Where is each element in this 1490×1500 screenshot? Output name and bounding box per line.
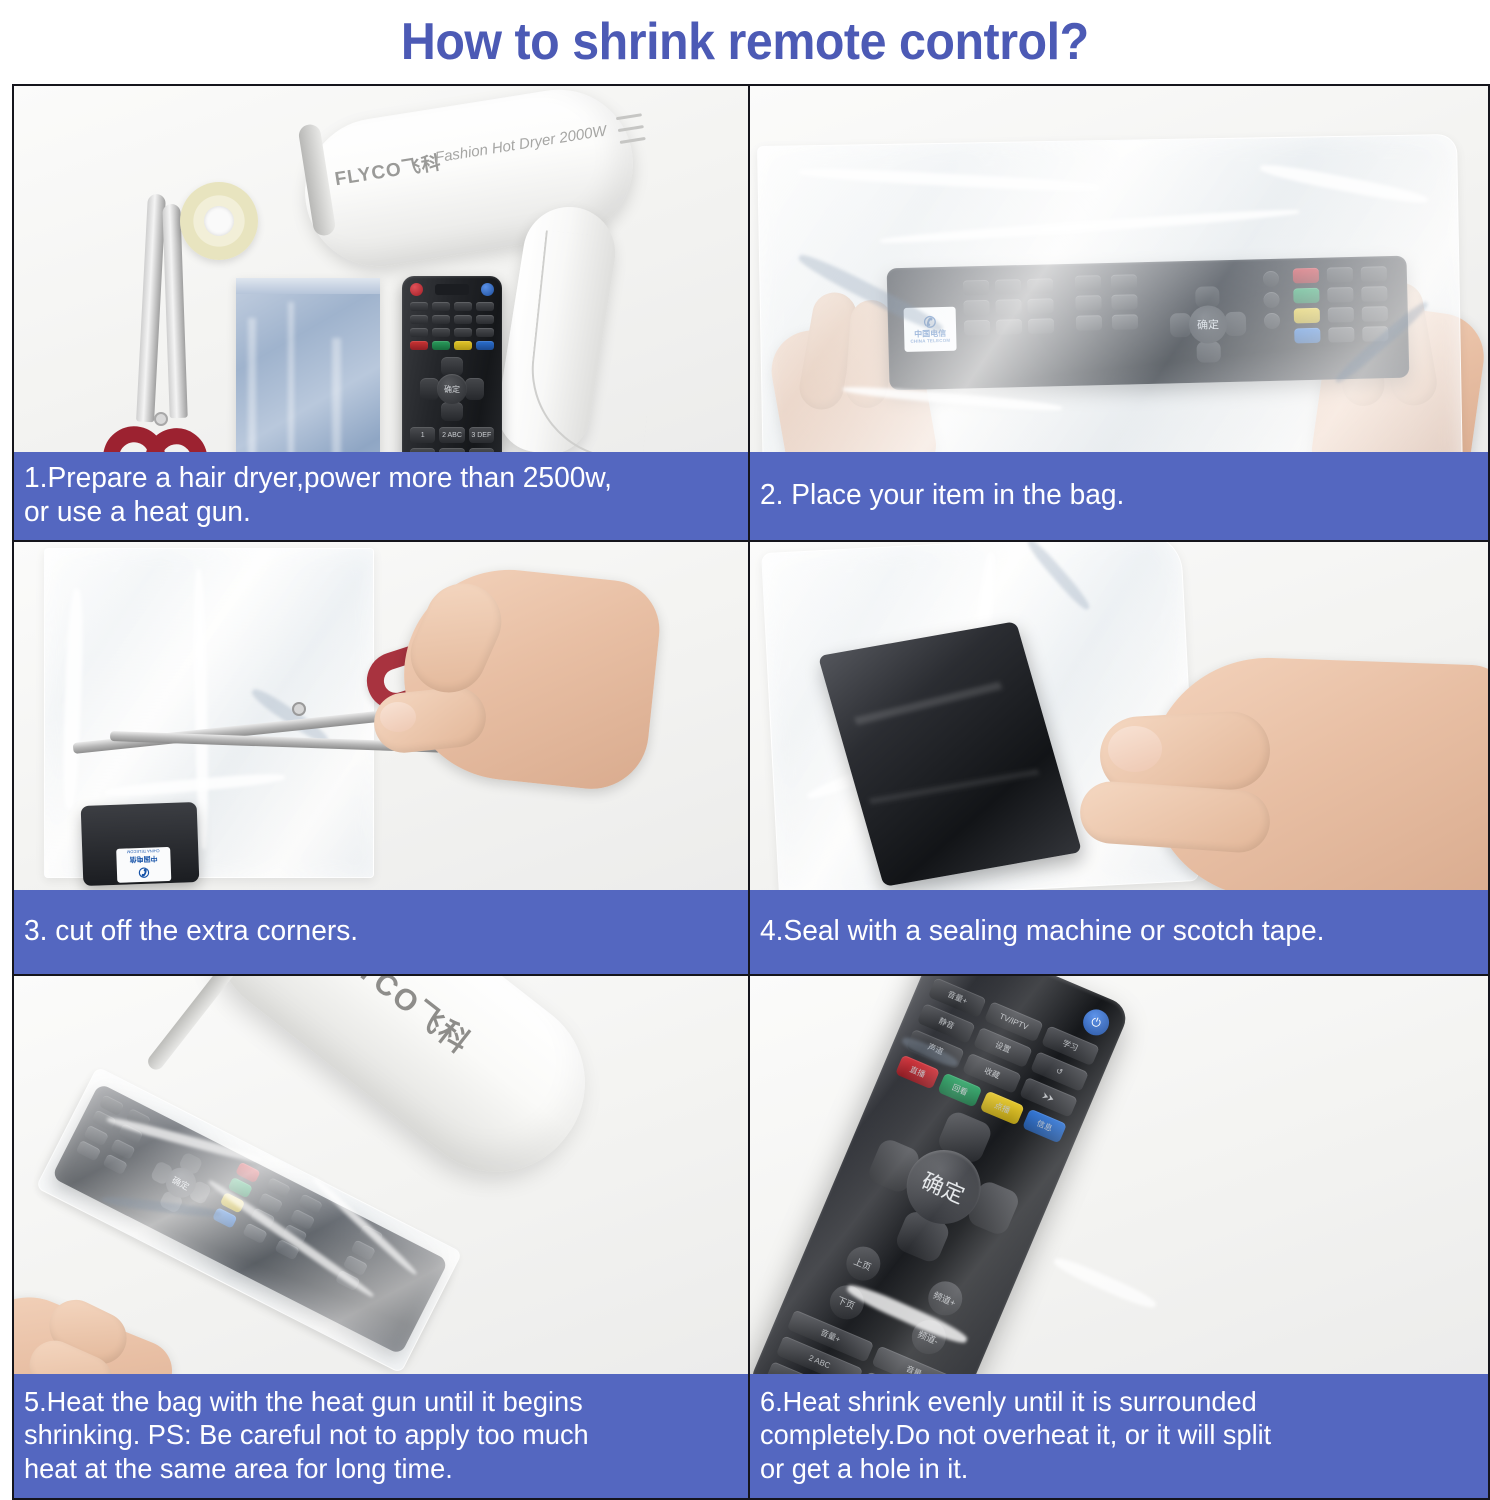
- remote-key-channel-up: 频道+: [923, 1276, 968, 1321]
- fingernail: [380, 702, 416, 732]
- remote-key-4: 4 GHI: [410, 448, 435, 452]
- step-photo-2: ✆ 中国电信 CHINA TELECOM: [750, 86, 1488, 452]
- telecom-mark-icon: ✆: [138, 864, 149, 880]
- caption-line: completely.Do not overheat it, or it wil…: [760, 1418, 1456, 1452]
- step-photo-5: FLYCO飞科 确定: [14, 976, 748, 1374]
- remote-power-blue-icon: ⏻: [1079, 1005, 1113, 1039]
- step-photo-3: ✆ 中国电信 CHINA TELECOM: [14, 542, 748, 890]
- remote-key-page-up: 上页: [841, 1241, 886, 1286]
- remote-control-flat: 确定 1 2 ABC 3 DEF 4 GHI 5 JKL 6 MNO: [402, 276, 502, 452]
- shrink-bag-flat: [236, 278, 380, 452]
- plastic-bag: [757, 134, 1463, 452]
- remote-key-1: 1: [410, 427, 435, 443]
- caption-line: heat at the same area for long time.: [24, 1452, 717, 1486]
- remote-key-6: 6 MNO: [469, 448, 494, 452]
- caption-line: 2. Place your item in the bag.: [760, 478, 1456, 512]
- remote-control-in-bag: ✆ 中国电信 CHINA TELECOM: [81, 802, 200, 886]
- tape-roll: [180, 182, 258, 260]
- remote-key-3: 3 DEF: [469, 427, 494, 443]
- step-panel-4: 4.Seal with a sealing machine or scotch …: [748, 540, 1490, 974]
- step-panel-2: ✆ 中国电信 CHINA TELECOM: [748, 84, 1490, 540]
- step-panel-3: ✆ 中国电信 CHINA TELECOM 3. cut off the extr…: [12, 540, 748, 974]
- remote-power-red-icon: ⏻: [939, 976, 973, 980]
- remote-key-5: 5 JKL: [439, 448, 464, 452]
- step-photo-6: ⏻ ⏻ 音量+ TV/IPTV 学习 静音 设置 ↺ 声道: [750, 976, 1488, 1374]
- telecom-logo-cn: 中国电信: [129, 854, 157, 865]
- steps-grid: FLYCO飞科 Fashion Hot Dryer 2000W: [12, 84, 1490, 1500]
- step-panel-6: ⏻ ⏻ 音量+ TV/IPTV 学习 静音 设置 ↺ 声道: [748, 974, 1490, 1500]
- step-photo-1: FLYCO飞科 Fashion Hot Dryer 2000W: [14, 86, 748, 452]
- fingernail: [1108, 726, 1162, 772]
- step-caption-4: 4.Seal with a sealing machine or scotch …: [750, 890, 1488, 974]
- step-caption-2: 2. Place your item in the bag.: [750, 452, 1488, 540]
- remote-key-2: 2 ABC: [439, 427, 464, 443]
- caption-line: 5.Heat the bag with the heat gun until i…: [24, 1385, 717, 1419]
- finger: [1078, 779, 1272, 854]
- remote-dpad: 确定: [420, 357, 484, 421]
- step-caption-5: 5.Heat the bag with the heat gun until i…: [14, 1374, 748, 1498]
- remote-power-blue-icon: [481, 283, 494, 296]
- caption-line: or get a hole in it.: [760, 1452, 1456, 1486]
- remote-ok-button: 确定: [437, 374, 467, 404]
- remote-logo-strip: [435, 284, 469, 295]
- infographic-page: How to shrink remote control? FLYCO飞科 Fa…: [0, 0, 1490, 1500]
- caption-line: 4.Seal with a sealing machine or scotch …: [760, 914, 1456, 948]
- remote-power-red-icon: [410, 283, 423, 296]
- caption-line: 1.Prepare a hair dryer,power more than 2…: [24, 461, 717, 495]
- step-panel-5: FLYCO飞科 确定: [12, 974, 748, 1500]
- step-panel-1: FLYCO飞科 Fashion Hot Dryer 2000W: [12, 84, 748, 540]
- scissors-pivot: [154, 412, 168, 426]
- caption-line: or use a heat gun.: [24, 495, 717, 529]
- caption-line: shrinking. PS: Be careful not to apply t…: [24, 1418, 717, 1452]
- step-caption-6: 6.Heat shrink evenly until it is surroun…: [750, 1374, 1488, 1498]
- step-caption-1: 1.Prepare a hair dryer,power more than 2…: [14, 452, 748, 540]
- page-header: How to shrink remote control?: [0, 0, 1490, 84]
- caption-line: 6.Heat shrink evenly until it is surroun…: [760, 1385, 1456, 1419]
- scissors-pivot: [292, 702, 306, 716]
- page-title: How to shrink remote control?: [401, 12, 1089, 72]
- caption-line: 3. cut off the extra corners.: [24, 914, 717, 948]
- step-caption-3: 3. cut off the extra corners.: [14, 890, 748, 974]
- step-photo-4: [750, 542, 1488, 890]
- remote-color-keys: [410, 341, 494, 350]
